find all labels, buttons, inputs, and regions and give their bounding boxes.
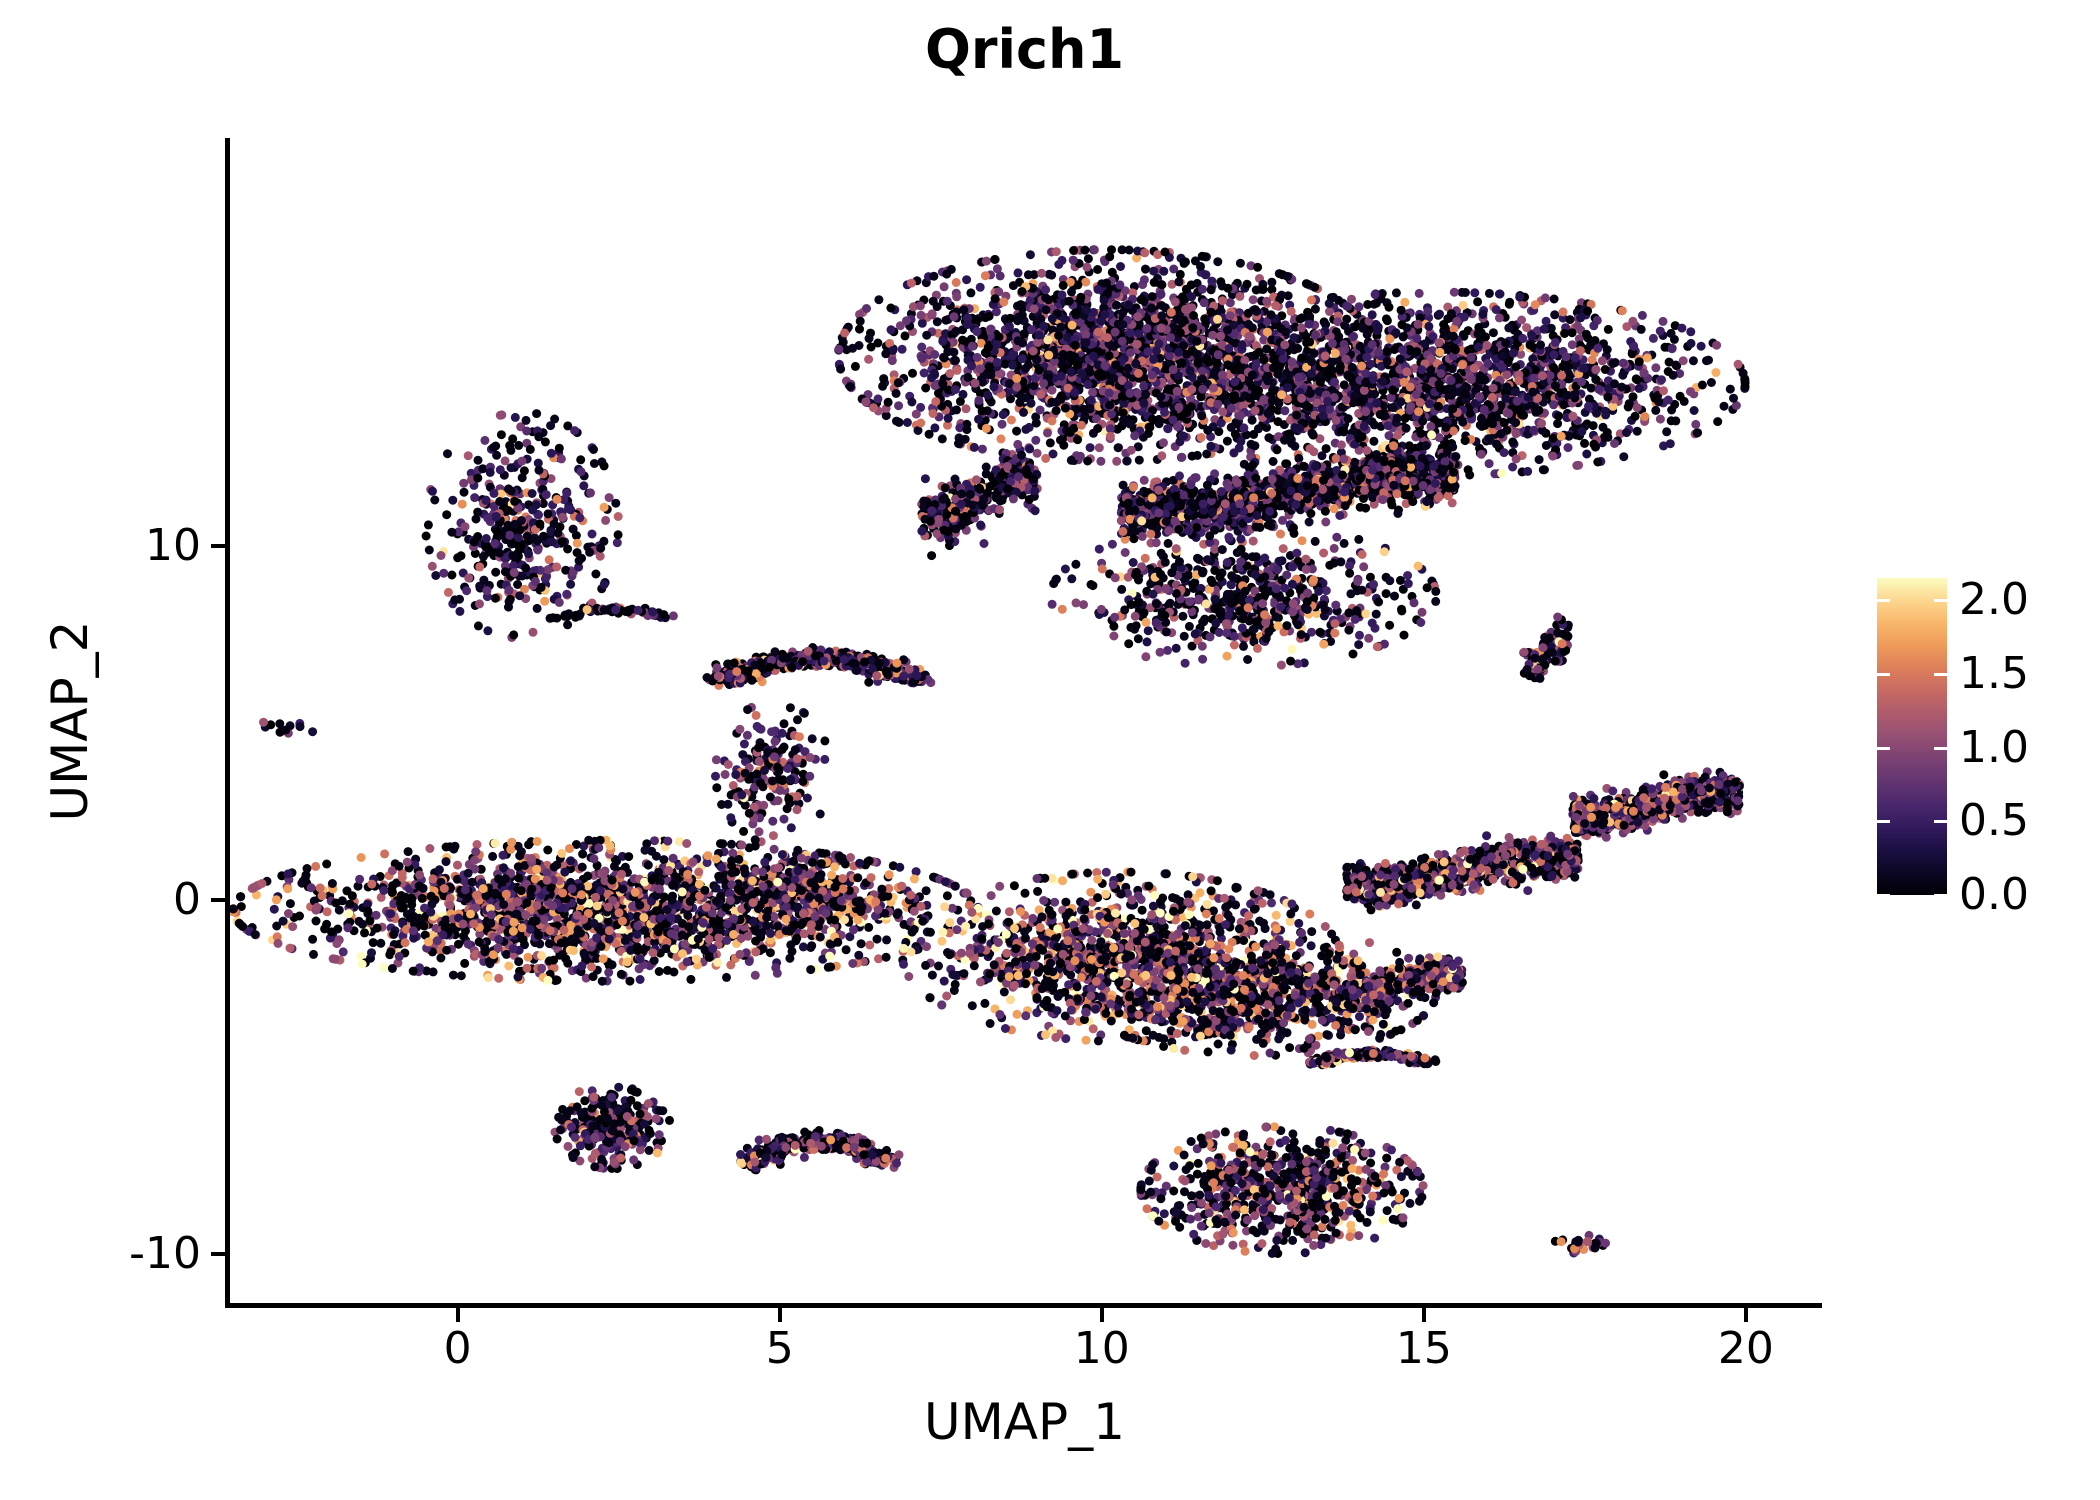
- colorbar-tick-label: 0.5: [1959, 794, 2100, 848]
- x-tick-label: 0: [378, 1322, 538, 1376]
- colorbar-tick-label: 2.0: [1959, 573, 2100, 627]
- x-tick-mark: [456, 1307, 460, 1322]
- colorbar-tick-label: 0.0: [1959, 868, 2100, 922]
- colorbar: 0.00.51.01.52.0: [1877, 578, 2097, 898]
- scatter-points-layer: [229, 138, 1820, 1305]
- y-axis-label: UMAP_2: [40, 371, 100, 1071]
- x-tick-label: 10: [1022, 1322, 1182, 1376]
- x-tick-mark: [1744, 1307, 1748, 1322]
- x-tick-label: 20: [1666, 1322, 1826, 1376]
- y-tick-mark: [211, 544, 226, 548]
- x-tick-label: 5: [700, 1322, 860, 1376]
- y-tick-mark: [211, 898, 226, 902]
- axis-spine-left: [225, 138, 230, 1308]
- colorbar-gradient: [1877, 578, 1947, 895]
- colorbar-tick-mark: [1877, 894, 1947, 897]
- x-tick-mark: [1100, 1307, 1104, 1322]
- x-tick-mark: [1422, 1307, 1426, 1322]
- x-tick-label: 15: [1344, 1322, 1504, 1376]
- page-title: Qrich1: [229, 18, 1820, 82]
- axis-spine-bottom: [225, 1303, 1822, 1308]
- colorbar-tick-mark: [1877, 673, 1947, 676]
- x-axis-label: UMAP_1: [229, 1392, 1820, 1452]
- figure-canvas: Qrich1 05101520 -10010 UMAP_1 UMAP_2: [0, 0, 2100, 1500]
- colorbar-tick-mark: [1877, 820, 1947, 823]
- x-tick-mark: [778, 1307, 782, 1322]
- colorbar-tick-mark: [1877, 599, 1947, 602]
- y-tick-mark: [211, 1252, 226, 1256]
- colorbar-tick-label: 1.0: [1959, 721, 2100, 775]
- colorbar-tick-label: 1.5: [1959, 647, 2100, 701]
- y-tick-label: -10: [31, 1227, 201, 1281]
- colorbar-tick-mark: [1877, 747, 1947, 750]
